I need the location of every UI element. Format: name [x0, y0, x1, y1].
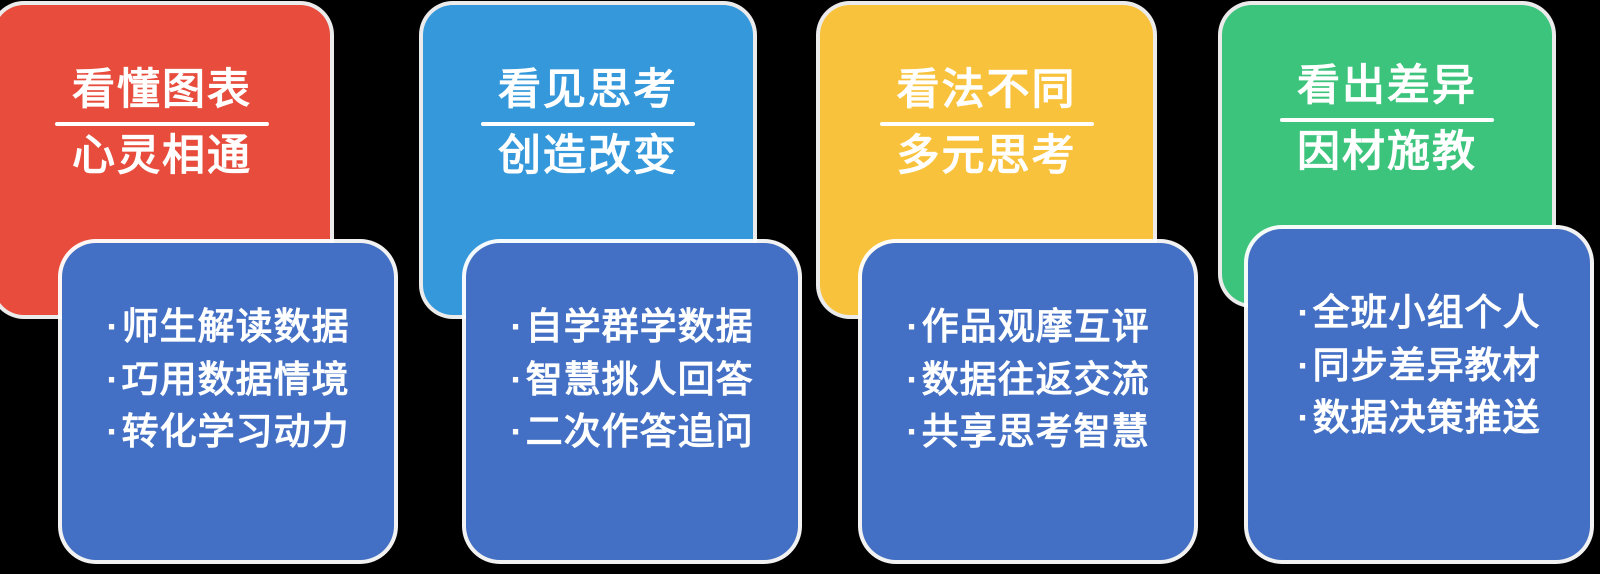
detail-text: 师生解读数据 [122, 301, 350, 354]
bullet-icon: · [906, 354, 919, 407]
detail-list-1: · 师生解读数据 · 巧用数据情境 · 转化学习动力 [106, 301, 349, 459]
list-item[interactable]: · 数据往返交流 [906, 354, 1149, 407]
bullet-icon: · [906, 406, 919, 459]
list-item[interactable]: · 转化学习动力 [106, 406, 349, 459]
bullet-icon: · [510, 354, 523, 407]
bullet-icon: · [106, 406, 119, 459]
topic-column-2: 看见思考 创造改变 · 自学群学数据 · 智慧挑人回答 · 二次作答追问 [400, 0, 800, 574]
topic-headline-1: 看懂图表 心灵相通 [0, 67, 330, 180]
detail-text: 作品观摩互评 [922, 301, 1150, 354]
bullet-icon: · [906, 301, 919, 354]
detail-text: 同步差异教材 [1313, 340, 1541, 393]
topic-headline-2: 看见思考 创造改变 [423, 67, 753, 180]
bullet-icon: · [1297, 340, 1310, 393]
bullet-icon: · [106, 301, 119, 354]
detail-list-4: · 全班小组个人 · 同步差异教材 · 数据决策推送 [1297, 287, 1540, 445]
topic-headline-4: 看出差异 因材施教 [1222, 63, 1552, 176]
detail-panel-1[interactable]: · 师生解读数据 · 巧用数据情境 · 转化学习动力 [62, 243, 394, 560]
topic-divider-rule [481, 122, 695, 126]
topic-title-line-2: 因材施教 [1297, 129, 1477, 175]
detail-text: 巧用数据情境 [122, 354, 350, 407]
bullet-icon: · [510, 301, 523, 354]
topic-title-line-2: 心灵相通 [72, 133, 252, 179]
detail-text: 全班小组个人 [1313, 287, 1541, 340]
detail-panel-2[interactable]: · 自学群学数据 · 智慧挑人回答 · 二次作答追问 [466, 243, 798, 560]
detail-text: 数据决策推送 [1313, 392, 1541, 445]
bullet-icon: · [1297, 287, 1310, 340]
detail-list-2: · 自学群学数据 · 智慧挑人回答 · 二次作答追问 [510, 301, 753, 459]
bullet-icon: · [1297, 392, 1310, 445]
topic-headline-3: 看法不同 多元思考 [820, 67, 1153, 180]
list-item[interactable]: · 数据决策推送 [1297, 392, 1540, 445]
topic-title-line-2: 多元思考 [897, 133, 1077, 179]
topic-divider-rule [880, 122, 1094, 126]
topic-column-3: 看法不同 多元思考 · 作品观摩互评 · 数据往返交流 · 共享思考智慧 [800, 0, 1200, 574]
detail-text: 转化学习动力 [122, 406, 350, 459]
detail-panel-4[interactable]: · 全班小组个人 · 同步差异教材 · 数据决策推送 [1248, 229, 1590, 560]
bullet-icon: · [106, 354, 119, 407]
detail-text: 自学群学数据 [526, 301, 754, 354]
detail-list-3: · 作品观摩互评 · 数据往返交流 · 共享思考智慧 [906, 301, 1149, 459]
list-item[interactable]: · 共享思考智慧 [906, 406, 1149, 459]
list-item[interactable]: · 同步差异教材 [1297, 340, 1540, 393]
list-item[interactable]: · 二次作答追问 [510, 406, 753, 459]
list-item[interactable]: · 巧用数据情境 [106, 354, 349, 407]
topic-divider-rule [1280, 118, 1494, 122]
detail-panel-3[interactable]: · 作品观摩互评 · 数据往返交流 · 共享思考智慧 [862, 243, 1194, 560]
detail-text: 共享思考智慧 [922, 406, 1150, 459]
detail-text: 二次作答追问 [526, 406, 754, 459]
topic-divider-rule [55, 122, 269, 126]
list-item[interactable]: · 师生解读数据 [106, 301, 349, 354]
topic-title-line-1: 看法不同 [897, 67, 1077, 113]
topic-column-4: 看出差异 因材施教 · 全班小组个人 · 同步差异教材 · 数据决策推送 [1200, 0, 1600, 574]
topic-title-line-1: 看出差异 [1297, 63, 1477, 109]
topic-title-line-1: 看懂图表 [72, 67, 252, 113]
detail-text: 数据往返交流 [922, 354, 1150, 407]
topic-title-line-2: 创造改变 [498, 133, 678, 179]
list-item[interactable]: · 作品观摩互评 [906, 301, 1149, 354]
bullet-icon: · [510, 406, 523, 459]
detail-text: 智慧挑人回答 [526, 354, 754, 407]
list-item[interactable]: · 自学群学数据 [510, 301, 753, 354]
list-item[interactable]: · 全班小组个人 [1297, 287, 1540, 340]
infographic-canvas: 看懂图表 心灵相通 · 师生解读数据 · 巧用数据情境 · 转化学习动力 [0, 0, 1600, 574]
list-item[interactable]: · 智慧挑人回答 [510, 354, 753, 407]
topic-column-1: 看懂图表 心灵相通 · 师生解读数据 · 巧用数据情境 · 转化学习动力 [0, 0, 400, 574]
topic-title-line-1: 看见思考 [498, 67, 678, 113]
